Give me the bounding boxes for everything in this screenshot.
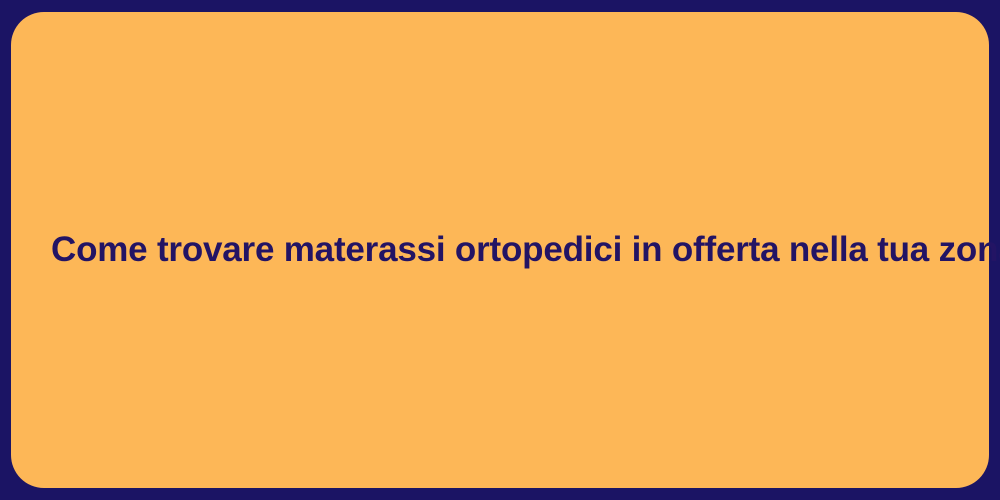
banner-frame: Come trovare materassi ortopedici in off… <box>0 0 1000 500</box>
banner-headline: Come trovare materassi ortopedici in off… <box>11 229 989 271</box>
banner-card: Come trovare materassi ortopedici in off… <box>11 12 989 488</box>
